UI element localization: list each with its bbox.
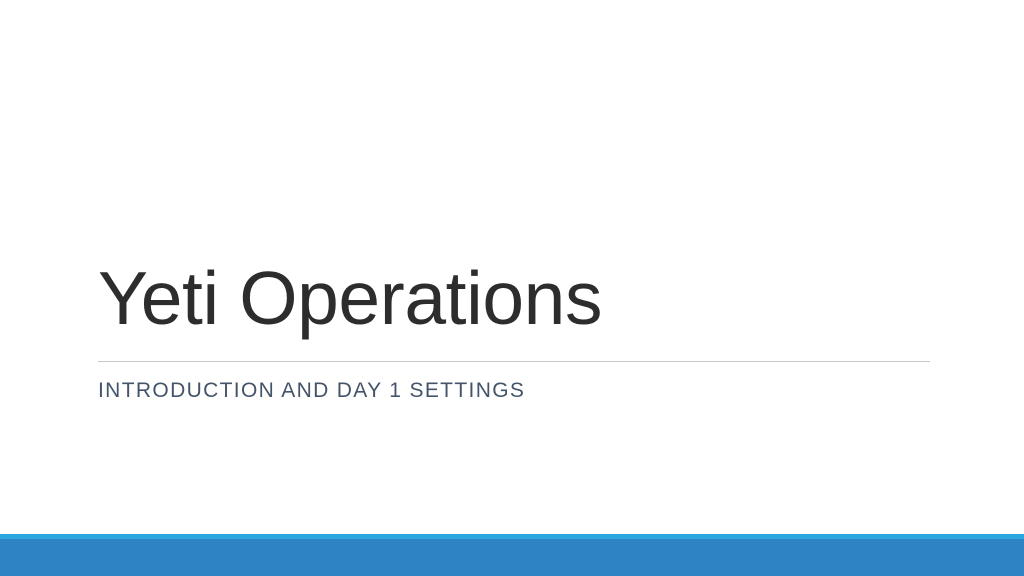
accent-bar-main <box>0 539 1024 576</box>
title-placeholder[interactable]: Yeti Operations <box>98 258 930 339</box>
page-subtitle: INTRODUCTION AND DAY 1 SETTINGS <box>98 377 930 404</box>
bottom-accent-band <box>0 534 1024 576</box>
title-slide: Yeti Operations INTRODUCTION AND DAY 1 S… <box>0 0 1024 576</box>
title-divider-rule <box>98 361 930 362</box>
page-title: Yeti Operations <box>98 258 930 339</box>
subtitle-placeholder[interactable]: INTRODUCTION AND DAY 1 SETTINGS <box>98 377 930 404</box>
